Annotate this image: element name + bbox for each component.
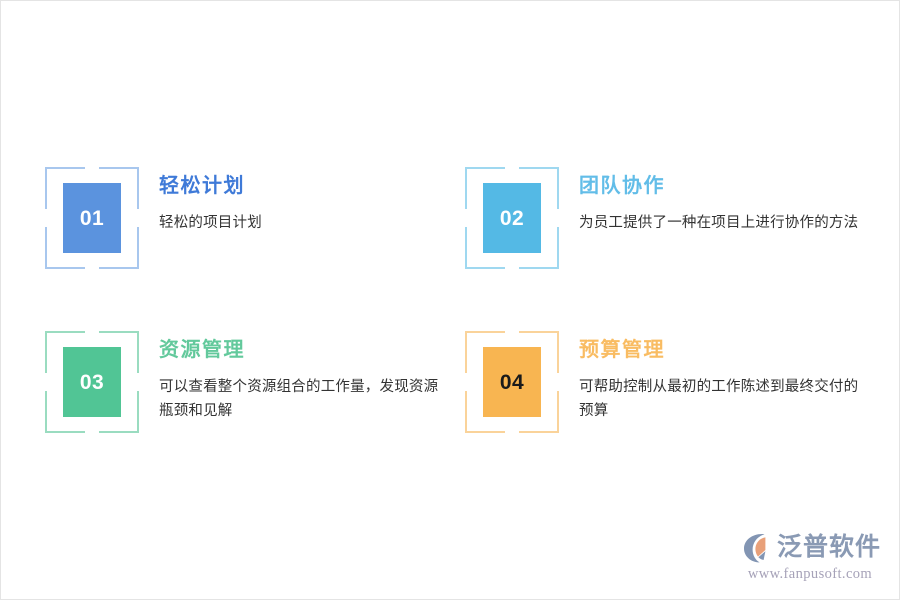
frame-edge-right-top [557, 357, 559, 373]
feature-description-02: 为员工提供了一种在项目上进行协作的方法 [579, 211, 859, 235]
frame-edge-bottom-left [491, 431, 505, 433]
feature-title-02: 团队协作 [579, 175, 859, 197]
fanpu-c-mark-icon [739, 531, 773, 565]
frame-edge-right-bottom [137, 227, 139, 243]
frame-edge-left-bottom [45, 391, 47, 407]
feature-card-01[interactable]: 01 轻松计划 轻松的项目计划 [45, 167, 465, 269]
page-canvas: 01 轻松计划 轻松的项目计划 [0, 0, 900, 600]
feature-grid: 01 轻松计划 轻松的项目计划 [45, 167, 885, 433]
frame-edge-top-right [99, 167, 113, 169]
frame-edge-right-bottom [557, 227, 559, 243]
frame-edge-left-bottom [45, 227, 47, 243]
frame-edge-left-top [465, 357, 467, 373]
frame-edge-left-top [465, 193, 467, 209]
frame-edge-bottom-left [71, 267, 85, 269]
number-badge-frame-02: 02 [465, 167, 559, 269]
frame-edge-left-bottom [465, 227, 467, 243]
frame-edge-top-left [491, 167, 505, 169]
feature-description-04: 可帮助控制从最初的工作陈述到最终交付的预算 [579, 375, 859, 424]
feature-text-03: 资源管理 可以查看整个资源组合的工作量，发现资源瓶颈和见解 [139, 331, 439, 424]
feature-description-01: 轻松的项目计划 [159, 211, 439, 235]
feature-title-04: 预算管理 [579, 339, 859, 361]
frame-edge-right-bottom [137, 391, 139, 407]
frame-edge-right-top [557, 193, 559, 209]
feature-card-04[interactable]: 04 预算管理 可帮助控制从最初的工作陈述到最终交付的预算 [465, 331, 885, 433]
brand-watermark: 泛普软件 www.fanpusoft.com [739, 531, 881, 582]
number-badge-frame-01: 01 [45, 167, 139, 269]
feature-text-04: 预算管理 可帮助控制从最初的工作陈述到最终交付的预算 [559, 331, 859, 424]
feature-text-01: 轻松计划 轻松的项目计划 [139, 167, 439, 235]
feature-card-02[interactable]: 02 团队协作 为员工提供了一种在项目上进行协作的方法 [465, 167, 885, 269]
feature-row-1: 01 轻松计划 轻松的项目计划 [45, 167, 885, 269]
frame-edge-bottom-left [491, 267, 505, 269]
brand-name: 泛普软件 [777, 535, 881, 560]
frame-edge-top-left [491, 331, 505, 333]
frame-edge-bottom-right [519, 267, 533, 269]
number-box-02: 02 [483, 183, 541, 253]
frame-edge-top-left [71, 167, 85, 169]
frame-edge-left-top [45, 357, 47, 373]
brand-url: www.fanpusoft.com [748, 567, 872, 582]
feature-card-03[interactable]: 03 资源管理 可以查看整个资源组合的工作量，发现资源瓶颈和见解 [45, 331, 465, 433]
feature-row-2: 03 资源管理 可以查看整个资源组合的工作量，发现资源瓶颈和见解 [45, 331, 885, 433]
frame-edge-left-top [45, 193, 47, 209]
frame-edge-top-right [519, 331, 533, 333]
number-badge-frame-03: 03 [45, 331, 139, 433]
frame-edge-right-top [137, 193, 139, 209]
frame-edge-bottom-right [519, 431, 533, 433]
brand-lockup: 泛普软件 [739, 531, 881, 565]
frame-edge-bottom-left [71, 431, 85, 433]
frame-edge-top-right [519, 167, 533, 169]
number-box-01: 01 [63, 183, 121, 253]
frame-edge-top-left [71, 331, 85, 333]
frame-edge-left-bottom [465, 391, 467, 407]
frame-edge-right-bottom [557, 391, 559, 407]
feature-text-02: 团队协作 为员工提供了一种在项目上进行协作的方法 [559, 167, 859, 235]
number-box-03: 03 [63, 347, 121, 417]
feature-title-01: 轻松计划 [159, 175, 439, 197]
frame-edge-top-right [99, 331, 113, 333]
feature-description-03: 可以查看整个资源组合的工作量，发现资源瓶颈和见解 [159, 375, 439, 424]
feature-title-03: 资源管理 [159, 339, 439, 361]
number-box-04: 04 [483, 347, 541, 417]
frame-edge-bottom-right [99, 267, 113, 269]
number-badge-frame-04: 04 [465, 331, 559, 433]
frame-edge-right-top [137, 357, 139, 373]
frame-edge-bottom-right [99, 431, 113, 433]
